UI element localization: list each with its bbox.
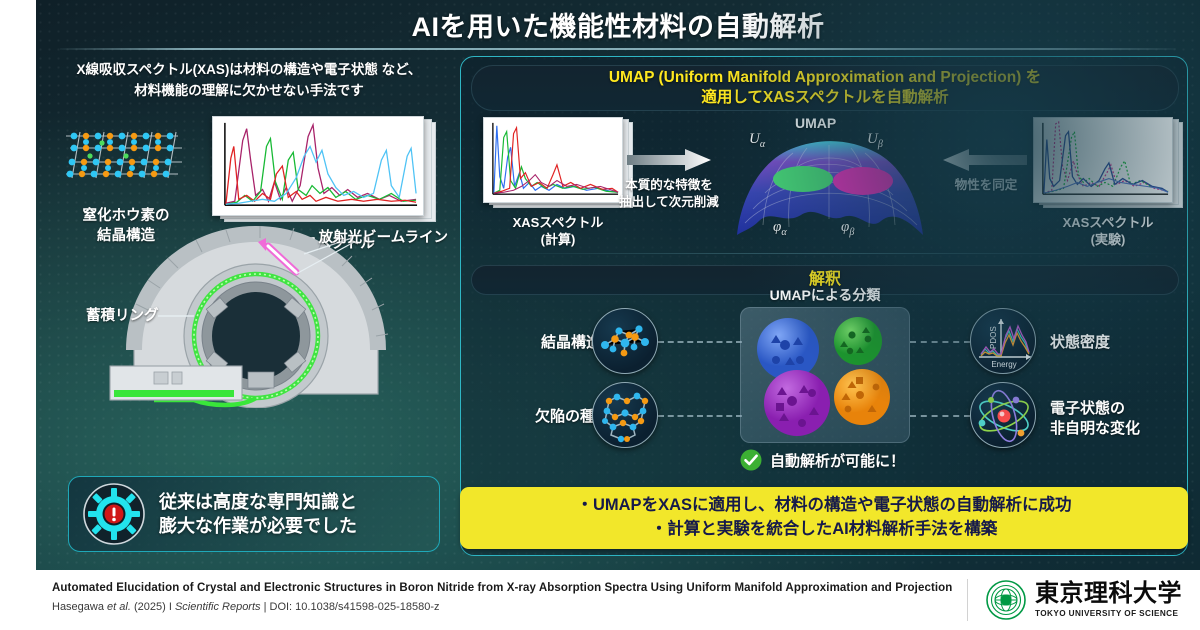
molecule-cluster-icon bbox=[593, 309, 658, 374]
defect-lattice-icon bbox=[593, 383, 658, 448]
check-circle-icon bbox=[740, 449, 762, 471]
citation-year: (2025) I bbox=[131, 601, 175, 613]
synchrotron-beamline-figure: 放射光ビームライン 蓄積リング bbox=[90, 224, 446, 408]
left-arrow-text: 本質的な特徴を 抽出して次元削減 bbox=[617, 177, 721, 211]
lead-line-2: 材料機能の理解に欠かせない手法です bbox=[46, 81, 452, 102]
bubble-defect-types bbox=[592, 382, 658, 448]
exp-caption-line-1: XASスペクトル bbox=[1033, 215, 1183, 232]
calc-caption: XASスペクトル (計算) bbox=[483, 215, 633, 249]
plot-card-front bbox=[212, 116, 424, 216]
callout-line-2: 膨大な作業が必要でした bbox=[159, 514, 357, 538]
manifold-title: UMAP bbox=[795, 115, 836, 131]
university-logo: 東京理科大学 TOKYO UNIVERSITY OF SCIENCE bbox=[967, 579, 1182, 621]
exp-caption: XASスペクトル (実験) bbox=[1033, 215, 1183, 249]
xas-spectrum-plot bbox=[213, 117, 423, 215]
left-arrow-line-1: 本質的な特徴を bbox=[617, 177, 721, 194]
citation-etal: et al. bbox=[107, 601, 131, 613]
logo-text-block: 東京理科大学 TOKYO UNIVERSITY OF SCIENCE bbox=[1035, 582, 1182, 618]
bubble-density-of-states: PDOS Energy bbox=[970, 308, 1036, 374]
umap-banner: UMAP (Uniform Manifold Approximation and… bbox=[471, 65, 1179, 111]
dash-connector-right-top bbox=[910, 341, 970, 343]
paper-title: Automated Elucidation of Crystal and Ele… bbox=[52, 582, 952, 594]
infographic-root: AIを用いた機能性材料の自動解析 X線吸収スペクトル(XAS)は材料の構造や電子… bbox=[0, 0, 1200, 630]
gear-warning-icon bbox=[83, 483, 145, 545]
citation-authors: Hasegawa bbox=[52, 601, 107, 613]
label-electronic-state-change: 電子状態の 非自明な変化 bbox=[1050, 399, 1140, 438]
calc-caption-line-2: (計算) bbox=[483, 232, 633, 249]
exp-plot-stack bbox=[1033, 117, 1183, 209]
left-arrow-line-2: 抽出して次元削減 bbox=[617, 194, 721, 211]
right-flow-arrow-icon bbox=[943, 149, 1027, 171]
calculated-spectrum-item: XASスペクトル (計算) bbox=[483, 117, 633, 249]
exp-caption-line-2: (実験) bbox=[1033, 232, 1183, 249]
paper-citation: Hasegawa et al. (2025) I Scientific Repo… bbox=[52, 601, 440, 613]
page-title: AIを用いた機能性材料の自動解析 bbox=[36, 5, 1200, 44]
citation-journal: Scientific Reports bbox=[175, 601, 261, 613]
footer: Automated Elucidation of Crystal and Ele… bbox=[0, 570, 1200, 630]
storage-ring-label: 蓄積リング bbox=[86, 304, 159, 325]
auto-analysis-status: 自動解析が可能に！ bbox=[740, 449, 930, 471]
umap-banner-text: UMAP (Uniform Manifold Approximation and… bbox=[609, 68, 1041, 108]
experimental-xas-plot bbox=[1034, 118, 1172, 202]
beamline-label: 放射光ビームライン bbox=[319, 226, 448, 247]
main-canvas: AIを用いた機能性材料の自動解析 X線吸収スペクトル(XAS)は材料の構造や電子… bbox=[36, 0, 1200, 570]
calc-caption-line-1: XASスペクトル bbox=[483, 215, 633, 232]
calculated-xas-plot bbox=[484, 118, 622, 202]
umap-banner-line-2: 適用してXASスペクトルを自動解析 bbox=[609, 88, 1041, 108]
interpretation-section: UMAPによる分類 結晶構造 bbox=[461, 297, 1188, 497]
right-arrow-text: 物性を同定 bbox=[943, 177, 1029, 194]
umap-cluster-panel bbox=[740, 307, 910, 443]
auto-analysis-text: 自動解析が可能に！ bbox=[770, 450, 905, 471]
callout-line-1: 従来は高度な専門知識と bbox=[159, 490, 357, 514]
manifold-surface-icon bbox=[731, 139, 927, 239]
exp-plot-card bbox=[1033, 117, 1173, 203]
tus-emblem-icon bbox=[986, 580, 1026, 620]
title-divider bbox=[60, 48, 1176, 50]
bubble-crystal-structure bbox=[592, 308, 658, 374]
calc-plot-card bbox=[483, 117, 623, 203]
experimental-spectrum-item: XASスペクトル (実験) bbox=[1033, 117, 1183, 249]
plot-stack bbox=[212, 116, 436, 224]
pdos-x-axis-text: Energy bbox=[991, 360, 1016, 369]
section-divider bbox=[475, 253, 1173, 254]
logo-japanese-name: 東京理科大学 bbox=[1035, 582, 1182, 606]
dash-connector-right-bottom bbox=[910, 415, 970, 417]
left-column: X線吸収スペクトル(XAS)は材料の構造や電子状態 など、 材料機能の理解に欠か… bbox=[46, 56, 452, 556]
umap-flow-row: XASスペクトル (計算) 本質的な特徴を 抽出して次元削減 UMAP Uα bbox=[461, 115, 1188, 250]
header: AIを用いた機能性材料の自動解析 bbox=[36, 0, 1200, 52]
lead-paragraph: X線吸収スペクトル(XAS)は材料の構造や電子状態 など、 材料機能の理解に欠か… bbox=[46, 60, 452, 102]
conclusion-box: ・UMAPをXASに適用し、材料の構造や電子状態の自動解析に成功 ・計算と実験を… bbox=[460, 487, 1188, 549]
conclusion-line-1: ・UMAPをXASに適用し、材料の構造や電子状態の自動解析に成功 bbox=[576, 494, 1071, 518]
citation-doi[interactable]: | DOI: 10.1038/s41598-025-18580-z bbox=[261, 601, 440, 613]
lead-line-1: X線吸収スペクトル(XAS)は材料の構造や電子状態 など、 bbox=[46, 60, 452, 81]
umap-manifold-figure: UMAP Uα Uβ φα φβ bbox=[723, 115, 933, 250]
dash-connector-left-bottom bbox=[658, 415, 742, 417]
crystal-lattice-icon bbox=[56, 118, 196, 196]
cluster-title: UMAPによる分類 bbox=[740, 285, 910, 305]
electronic-state-line-1: 電子状態の bbox=[1050, 399, 1140, 419]
dash-connector-left-top bbox=[658, 341, 742, 343]
atom-orbit-icon bbox=[971, 383, 1036, 448]
legacy-problem-callout: 従来は高度な専門知識と 膨大な作業が必要でした bbox=[68, 476, 440, 552]
label-density-of-states: 状態密度 bbox=[1050, 333, 1110, 353]
electronic-state-line-2: 非自明な変化 bbox=[1050, 419, 1140, 439]
pdos-plot-icon: PDOS Energy bbox=[971, 309, 1036, 374]
cluster-scatter-icon bbox=[740, 307, 910, 443]
right-panel: UMAP (Uniform Manifold Approximation and… bbox=[460, 56, 1188, 556]
callout-text: 従来は高度な専門知識と 膨大な作業が必要でした bbox=[159, 490, 357, 539]
bubble-electronic-state bbox=[970, 382, 1036, 448]
pdos-y-axis-text: PDOS bbox=[989, 326, 998, 349]
conclusion-line-2: ・計算と実験を統合したAI材料解析手法を構築 bbox=[651, 518, 998, 542]
calc-plot-stack bbox=[483, 117, 633, 209]
umap-banner-line-1: UMAP (Uniform Manifold Approximation and… bbox=[609, 68, 1041, 88]
logo-english-name: TOKYO UNIVERSITY OF SCIENCE bbox=[1035, 609, 1182, 618]
left-flow-arrow-icon bbox=[627, 149, 711, 171]
